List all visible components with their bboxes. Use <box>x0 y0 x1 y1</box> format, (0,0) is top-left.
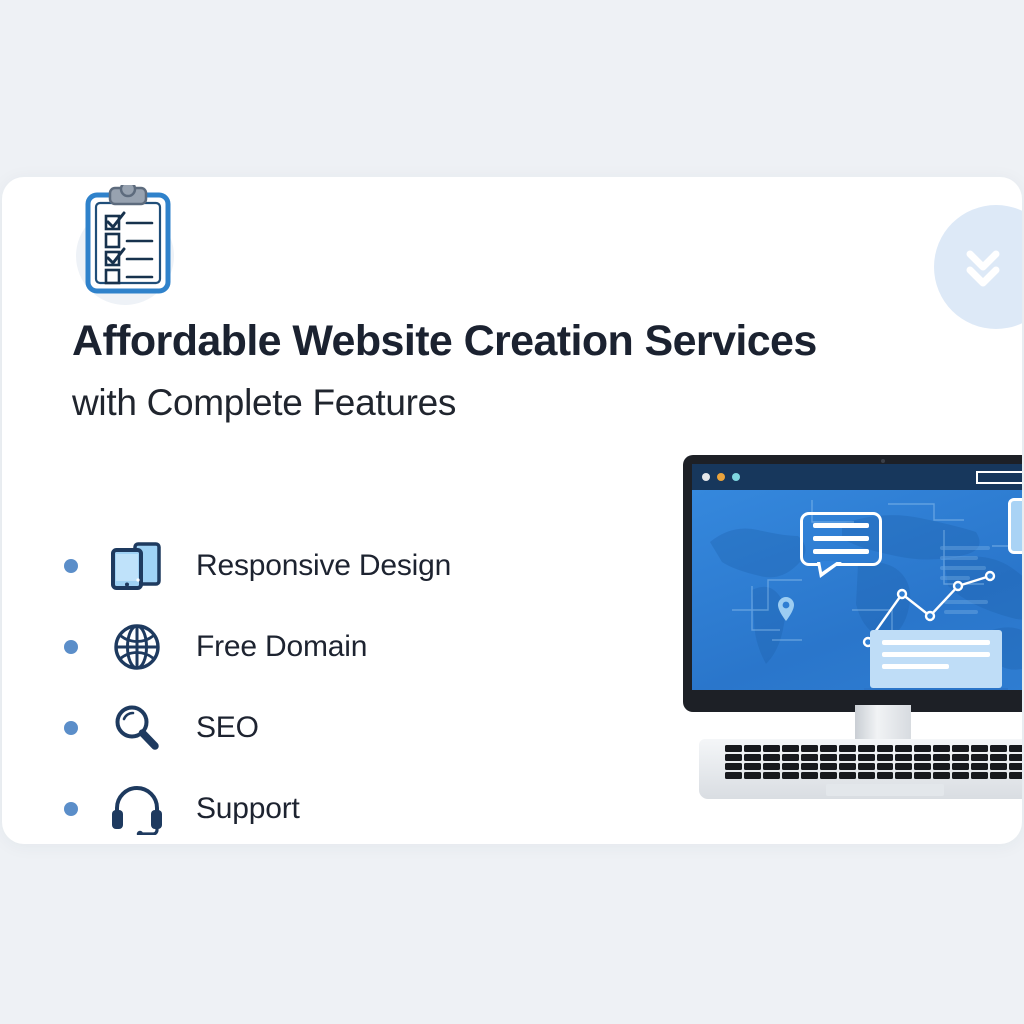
list-item[interactable]: Support <box>64 768 584 844</box>
globe-icon <box>104 622 170 672</box>
page-subtitle: with Complete Features <box>72 382 456 424</box>
document-card-shadow <box>864 688 1008 690</box>
window-close-dot[interactable] <box>702 473 710 481</box>
doc-line <box>882 640 990 645</box>
document-content-card <box>870 630 1002 688</box>
location-pin-icon <box>776 596 796 627</box>
clipboard-checklist-icon <box>70 185 186 301</box>
speech-bubble-card <box>800 512 882 566</box>
user-avatar-icon <box>1011 501 1022 551</box>
list-item[interactable]: Responsive Design <box>64 525 584 606</box>
bubble-line <box>813 523 869 528</box>
page-title: Affordable Website Creation Services <box>72 317 817 366</box>
window-maximize-dot[interactable] <box>732 473 740 481</box>
window-minimize-dot[interactable] <box>717 473 725 481</box>
scroll-down-badge[interactable] <box>934 205 1022 329</box>
feature-label: SEO <box>196 711 259 745</box>
monitor-bezel <box>683 455 1022 712</box>
headset-support-icon <box>104 783 170 835</box>
devices-responsive-icon <box>104 542 170 590</box>
bubble-line <box>813 536 869 541</box>
browser-viewport <box>692 490 1022 690</box>
feature-card: Affordable Website Creation Services wit… <box>2 177 1022 844</box>
browser-url-bar[interactable] <box>976 471 1022 484</box>
keyboard-keys <box>725 745 1022 779</box>
trackpad[interactable] <box>826 784 944 796</box>
bullet-dot <box>64 640 78 654</box>
doc-line <box>882 664 949 669</box>
bullet-dot <box>64 721 78 735</box>
webcam-dot <box>881 459 885 463</box>
clipboard-glyph <box>82 185 174 295</box>
browser-titlebar <box>692 464 1022 490</box>
bullet-dot <box>64 802 78 816</box>
feature-list: Responsive Design Free Domain <box>64 525 584 844</box>
bullet-dot <box>64 559 78 573</box>
feature-label: Support <box>196 792 300 826</box>
user-avatar-card <box>1008 498 1022 554</box>
double-chevron-down-icon <box>962 244 1004 290</box>
list-item[interactable]: Free Domain <box>64 606 584 687</box>
bubble-line <box>813 549 869 554</box>
feature-label: Free Domain <box>196 630 367 664</box>
monitor-screen <box>692 464 1022 690</box>
keyboard[interactable] <box>699 739 1022 799</box>
doc-line <box>882 652 990 657</box>
magnifier-search-icon <box>104 702 170 754</box>
feature-label: Responsive Design <box>196 549 451 583</box>
desktop-computer-illustration <box>683 455 1022 805</box>
list-item[interactable]: SEO <box>64 687 584 768</box>
